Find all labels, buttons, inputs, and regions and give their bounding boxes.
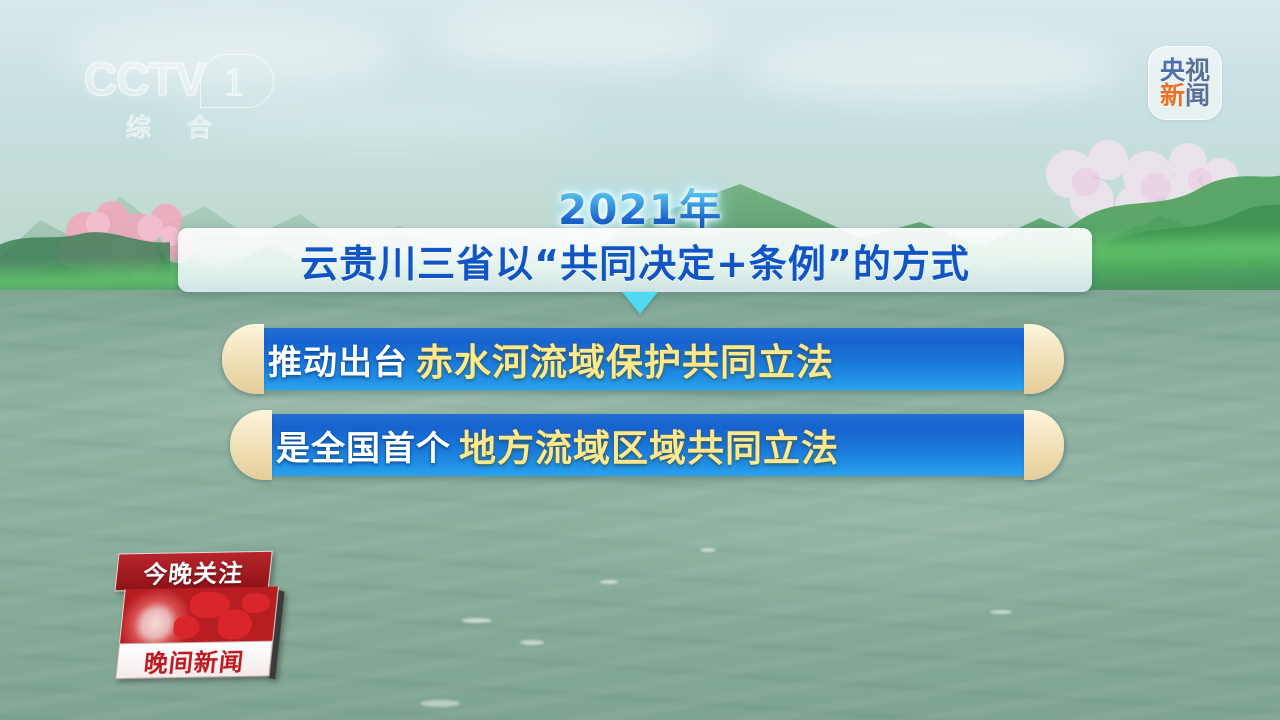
cloud-shape	[430, 10, 730, 68]
news-bug-char-yang: 央	[1160, 58, 1185, 83]
broadcast-frame: CCTV 1 综 合 央 视 新 闻 2021年 云贵川三省以“共同决定+条例”…	[0, 0, 1280, 720]
globe-landmass	[241, 593, 271, 613]
program-segment-banner: 今晚关注	[114, 551, 272, 592]
fact-bar-1-emphasis: 赤水河流域保护共同立法	[416, 332, 834, 386]
fact-bar-2-prefix: 是全国首个	[276, 421, 451, 470]
water-ripple	[600, 580, 618, 584]
fact-bar-1: 推动出台 赤水河流域保护共同立法	[238, 328, 1050, 390]
cctv-channel-subtitle: 综 合	[126, 108, 226, 144]
news-bug-line-2: 新 闻	[1160, 83, 1210, 108]
water-ripple	[700, 548, 716, 552]
globe-icon	[119, 587, 279, 646]
program-logo: 今晚关注 晚间新闻	[105, 551, 287, 680]
program-title: 晚间新闻	[142, 642, 246, 679]
cctv-wordmark: CCTV	[84, 52, 205, 106]
fact-bar-2: 是全国首个 地方流域区域共同立法	[246, 414, 1050, 476]
headline-text: 云贵川三省以“共同决定+条例”的方式	[300, 233, 970, 288]
water-ripple	[520, 640, 544, 645]
news-bug-char-shi: 视	[1185, 58, 1210, 83]
news-bug-char-xin: 新	[1160, 83, 1185, 108]
water-ripple	[462, 618, 492, 623]
fact-bar-1-prefix: 推动出台	[268, 335, 408, 384]
water-ripple	[990, 610, 1012, 614]
news-bug-line-1: 央 视	[1160, 58, 1210, 83]
cctv-channel-number: 1	[224, 58, 244, 105]
program-title-banner: 晚间新闻	[115, 641, 273, 680]
globe-landmass	[173, 616, 201, 638]
news-bug-char-wen: 闻	[1185, 83, 1210, 108]
program-segment-title: 今晚关注	[142, 553, 246, 590]
globe-landmass	[216, 609, 253, 640]
chevron-down-icon	[622, 292, 658, 314]
headline-bar: 云贵川三省以“共同决定+条例”的方式	[178, 228, 1092, 292]
fact-bar-2-emphasis: 地方流域区域共同立法	[459, 418, 839, 472]
cctv-news-bug: 央 视 新 闻	[1148, 46, 1222, 120]
cctv-1-channel-logo: CCTV 1 综 合	[84, 52, 284, 142]
water-ripple	[420, 700, 460, 707]
